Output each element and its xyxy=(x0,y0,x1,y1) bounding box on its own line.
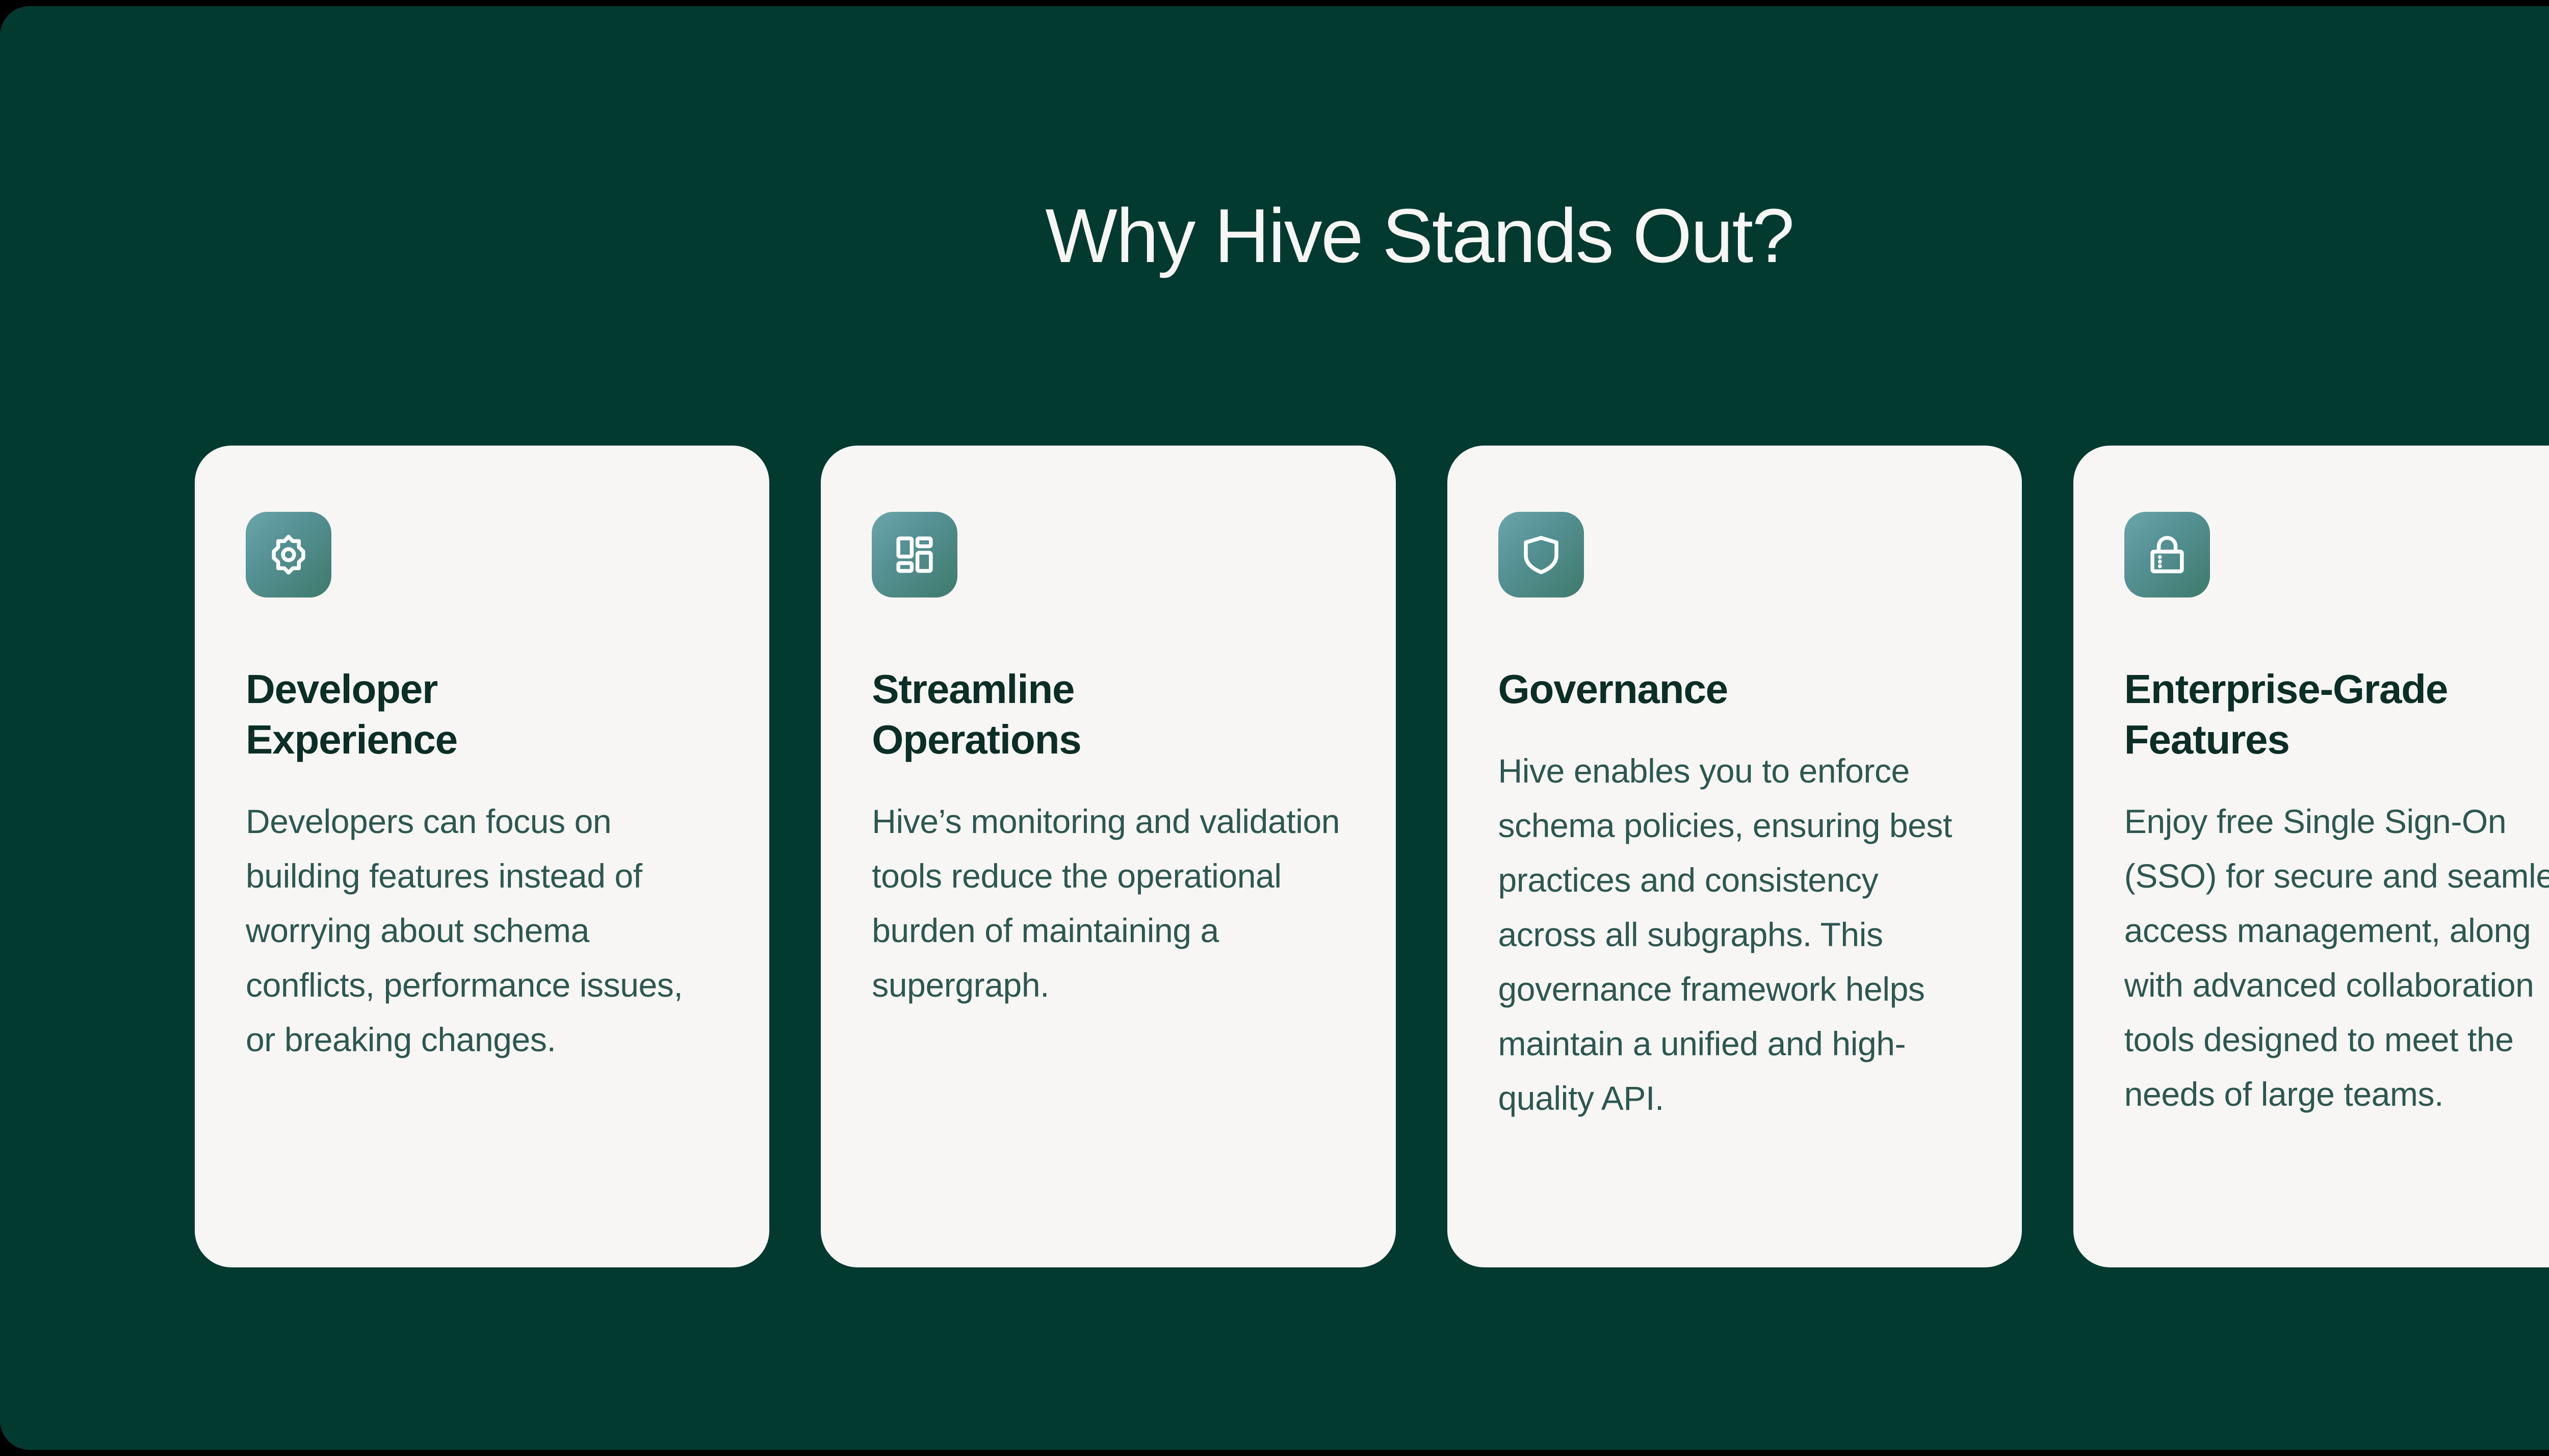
feature-card-body: Developers can focus on building feature… xyxy=(246,794,718,1067)
feature-card-body: Enjoy free Single Sign-On (SSO) for secu… xyxy=(2124,794,2549,1121)
feature-card-row: Developer Experience Developers can focu… xyxy=(195,446,2549,1267)
layout-grid-icon xyxy=(892,532,938,578)
page-title: Why Hive Stands Out? xyxy=(0,196,2549,276)
feature-card-governance[interactable]: Governance Hive enables you to enforce s… xyxy=(1447,446,2022,1267)
feature-card-developer-experience[interactable]: Developer Experience Developers can focu… xyxy=(195,446,769,1267)
feature-card-title: Streamline Operations xyxy=(872,664,1188,765)
gear-icon xyxy=(266,532,311,578)
lock-icon-tile xyxy=(2124,512,2210,597)
screenshot-viewport: Why Hive Stands Out? Developer Experienc… xyxy=(0,0,2549,1456)
layout-grid-icon-tile xyxy=(872,512,957,597)
feature-card-enterprise-grade-features[interactable]: Enterprise-Grade Features Enjoy free Sin… xyxy=(2073,446,2549,1267)
feature-card-title: Enterprise-Grade Features xyxy=(2124,664,2512,765)
shield-icon-tile xyxy=(1498,512,1584,597)
feature-card-title: Developer Experience xyxy=(246,664,562,765)
feature-card-body: Hive enables you to enforce schema polic… xyxy=(1498,744,1971,1125)
feature-section-panel: Why Hive Stands Out? Developer Experienc… xyxy=(0,6,2549,1450)
lock-icon xyxy=(2144,532,2190,578)
feature-card-streamline-operations[interactable]: Streamline Operations Hive’s monitoring … xyxy=(821,446,1395,1267)
feature-card-title: Governance xyxy=(1498,664,1728,714)
feature-card-body: Hive’s monitoring and validation tools r… xyxy=(872,794,1344,1012)
shield-icon xyxy=(1518,532,1564,578)
gear-icon-tile xyxy=(246,512,331,597)
